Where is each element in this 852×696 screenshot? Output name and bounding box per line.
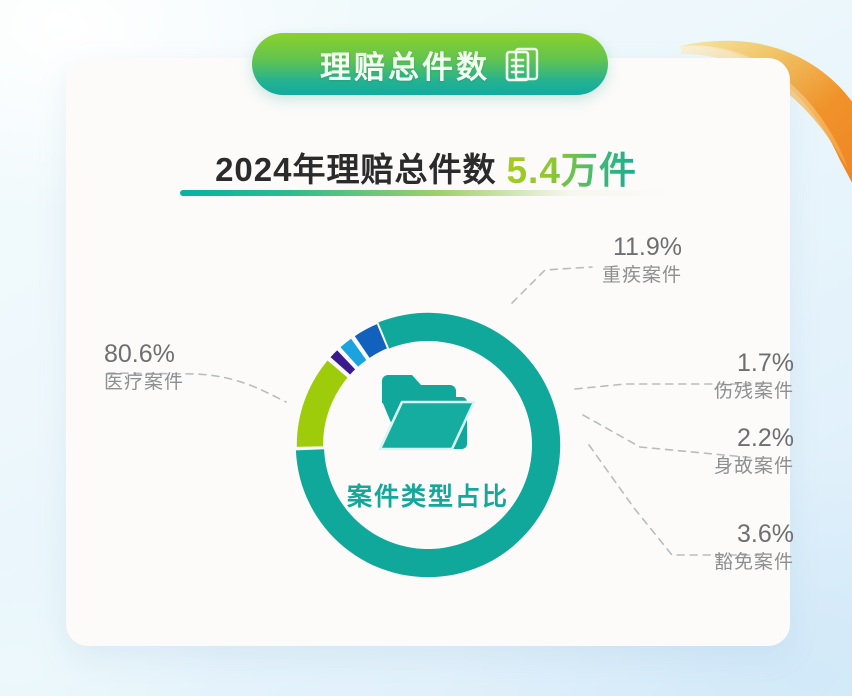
callout-disability-name: 伤残案件: [714, 379, 794, 406]
callout-death: 2.2% 身故案件: [714, 425, 794, 481]
callout-critical-pct: 11.9%: [602, 234, 682, 260]
callout-disability-pct: 1.7%: [714, 350, 794, 376]
document-list-icon: [504, 45, 540, 83]
callout-death-name: 身故案件: [714, 454, 794, 481]
callout-waiver-pct: 3.6%: [714, 521, 794, 547]
donut-slice-critical[interactable]: [296, 359, 349, 448]
folder-icon: [376, 367, 480, 459]
callout-critical-name: 重疾案件: [602, 263, 682, 290]
callout-death-pct: 2.2%: [714, 425, 794, 451]
donut-center-label: 案件类型占比: [268, 477, 588, 513]
callout-medical-pct: 80.6%: [104, 341, 184, 367]
callout-medical-name: 医疗案件: [104, 370, 184, 397]
callout-waiver-name: 豁免案件: [714, 550, 794, 577]
callout-disability: 1.7% 伤残案件: [714, 350, 794, 406]
page-title: 2024年理赔总件数5.4万件: [0, 140, 852, 194]
title-underline: [180, 190, 678, 196]
donut-chart: 案件类型占比: [268, 285, 588, 605]
callout-critical: 11.9% 重疾案件: [602, 234, 682, 290]
section-badge: 理赔总件数: [252, 33, 608, 95]
callout-medical: 80.6% 医疗案件: [104, 341, 184, 397]
page-title-highlight: 5.4万件: [506, 150, 636, 191]
callout-waiver: 3.6% 豁免案件: [714, 521, 794, 577]
section-badge-label: 理赔总件数: [320, 42, 490, 87]
page-title-main: 2024年理赔总件数: [215, 151, 496, 188]
